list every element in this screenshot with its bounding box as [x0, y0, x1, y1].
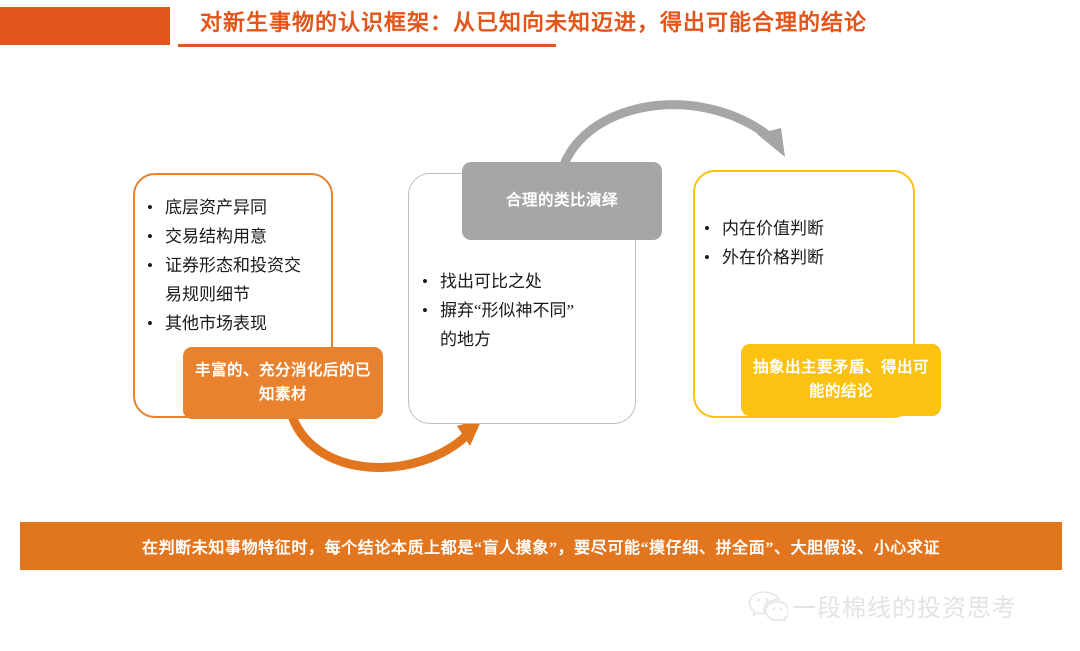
list-item: 交易结构用意 — [143, 222, 338, 251]
watermark-text: 一段棉线的投资思考 — [792, 588, 1017, 623]
list-item-continuation: 的地方 — [418, 325, 633, 354]
stage-bullet-list-known-materials: 底层资产异同 交易结构用意 证券形态和投资交 易规则细节 其他市场表现 — [143, 193, 338, 338]
list-item: 外在价格判断 — [700, 243, 910, 272]
wechat-icon — [748, 589, 788, 621]
chip-conclusion[interactable]: 抽象出主要矛盾、得出可能的结论 — [741, 344, 941, 416]
list-item: 其他市场表现 — [143, 309, 338, 338]
list-item: 找出可比之处 — [418, 267, 633, 296]
footer-banner-text: 在判断未知事物特征时，每个结论本质上都是“盲人摸象”，要尽可能“摸仔细、拼全面”… — [142, 534, 940, 558]
footer-banner: 在判断未知事物特征时，每个结论本质上都是“盲人摸象”，要尽可能“摸仔细、拼全面”… — [20, 522, 1062, 570]
watermark: 一段棉线的投资思考 — [748, 585, 1058, 625]
list-item: 证券形态和投资交 — [143, 251, 338, 280]
header-accent-block — [0, 7, 170, 45]
list-item: 摒弃“形似神不同” — [418, 296, 633, 325]
list-item-continuation: 易规则细节 — [143, 280, 338, 309]
page-header: 对新生事物的认识框架：从已知向未知迈进，得出可能合理的结论 — [0, 0, 1080, 52]
page-title: 对新生事物的认识框架：从已知向未知迈进，得出可能合理的结论 — [200, 8, 1060, 38]
chip-known-materials[interactable]: 丰富的、充分消化后的已知素材 — [183, 347, 383, 419]
chip-analogical-reasoning[interactable]: 合理的类比演绎 — [462, 162, 662, 240]
header-underline — [178, 44, 556, 47]
stage-bullet-list-analogical-reasoning: 找出可比之处 摒弃“形似神不同” 的地方 — [418, 267, 633, 354]
list-item: 底层资产异同 — [143, 193, 338, 222]
stage-bullet-list-conclusion: 内在价值判断 外在价格判断 — [700, 214, 910, 272]
list-item: 内在价值判断 — [700, 214, 910, 243]
diagram-stage: 底层资产异同 交易结构用意 证券形态和投资交 易规则细节 其他市场表现 丰富的、… — [0, 52, 1080, 512]
